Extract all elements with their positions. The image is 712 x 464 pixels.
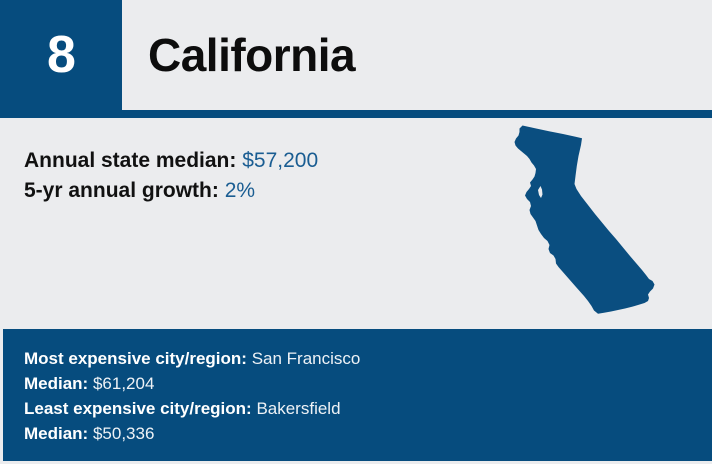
value-most-expensive-median: $61,204 [93,374,154,393]
value-most-expensive-city: San Francisco [252,349,361,368]
stat-label-growth: 5-yr annual growth: [24,179,219,202]
value-least-expensive-city: Bakersfield [256,399,340,418]
stats-list: Annual state median: $57,200 5-yr annual… [24,146,464,206]
rank-badge: 8 [0,0,122,110]
detail-row: Median: $61,204 [24,371,684,396]
stats-panel: Annual state median: $57,200 5-yr annual… [0,118,712,329]
detail-row: Least expensive city/region: Bakersfield [24,396,684,421]
stat-label-annual-median: Annual state median: [24,149,236,172]
value-least-expensive-median: $50,336 [93,424,154,443]
city-details-list: Most expensive city/region: San Francisc… [24,346,684,446]
label-least-expensive-city: Least expensive city/region: [24,399,252,418]
page-title: California [122,32,355,78]
label-most-expensive-median: Median: [24,374,88,393]
stat-value-annual-median: $57,200 [242,149,318,172]
city-details-panel: Most expensive city/region: San Francisc… [0,329,712,464]
card-header: 8 California [0,0,712,110]
header-divider [0,110,712,118]
state-map-container [505,118,665,329]
left-edge-strip [0,118,3,464]
label-most-expensive-city: Most expensive city/region: [24,349,247,368]
stat-value-growth: 2% [225,179,255,202]
state-info-card: 8 California Annual state median: $57,20… [0,0,712,464]
rank-number: 8 [47,29,75,81]
stat-row: 5-yr annual growth: 2% [24,176,464,206]
detail-row: Most expensive city/region: San Francisc… [24,346,684,371]
label-least-expensive-median: Median: [24,424,88,443]
stat-row: Annual state median: $57,200 [24,146,464,176]
title-panel: California [122,0,712,110]
detail-row: Median: $50,336 [24,421,684,446]
california-state-map-icon [505,118,665,329]
